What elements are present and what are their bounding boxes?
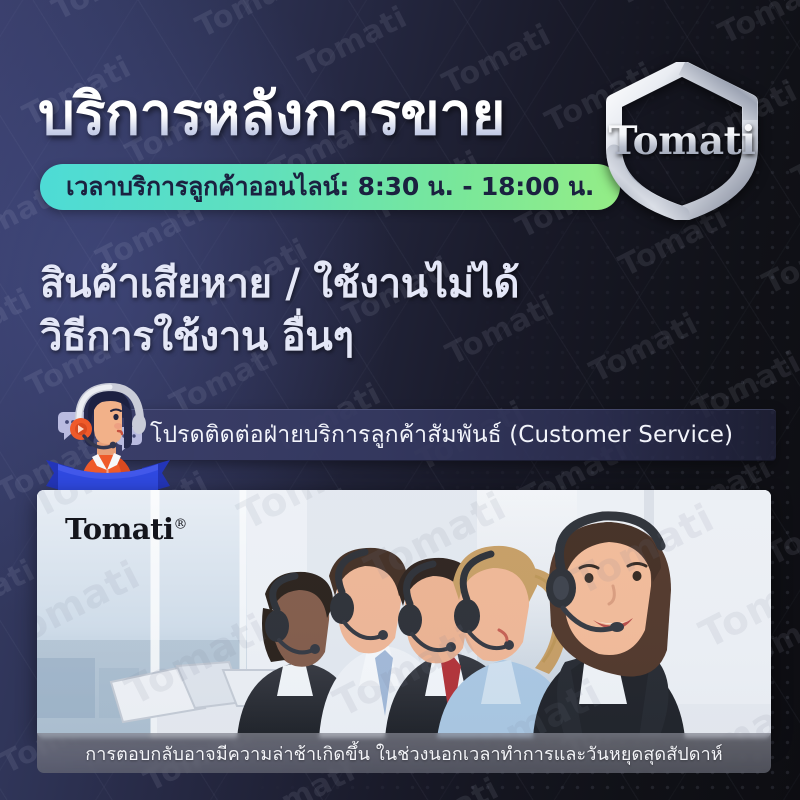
issue-line-2: วิธีการใช้งาน อื่นๆ (40, 311, 640, 364)
photo-brand-watermark: Tomati® (65, 512, 187, 546)
page-title: บริการหลังการขาย (38, 84, 568, 145)
watermark-text: Tomati (293, 0, 412, 84)
promo-poster: Tomati Tomati Tomati Tomati Tomati Tomat… (0, 0, 800, 800)
issue-line-1: สินค้าเสียหาย / ใช้งานไม่ได้ (40, 261, 519, 307)
watermark-text: Tomati (786, 112, 800, 196)
footer-notice-text: การตอบกลับอาจมีความล่าช้าเกิดขึ้น ในช่วง… (85, 739, 723, 768)
registered-mark: ® (173, 516, 187, 532)
brand-name: Tomati (606, 118, 758, 164)
call-center-team-photo: Tomati Tomati Tomati Tomati Tomati Tomat… (37, 490, 771, 738)
watermark-text: Tomati (47, 0, 166, 28)
service-hours-label: เวลาบริการลูกค้าออนไลน์: 8:30 น. - 18:00… (66, 167, 594, 207)
service-hours-badge: เวลาบริการลูกค้าออนไลน์: 8:30 น. - 18:00… (40, 164, 620, 210)
headset-agent-icon (44, 376, 172, 500)
issue-list: สินค้าเสียหาย / ใช้งานไม่ได้ วิธีการใช้ง… (40, 258, 640, 364)
watermark-text: Tomati (610, 0, 729, 13)
photo-brand-name: Tomati (65, 512, 173, 546)
watermark-text: Tomati (713, 0, 800, 52)
watermark-text: Tomati (0, 553, 41, 637)
watermark-text: Tomati (0, 282, 37, 366)
brand-logo: Tomati (606, 62, 758, 220)
watermark-text: Tomati (757, 218, 800, 302)
contact-banner: โปรดติดต่อฝ่ายบริการลูกค้าสัมพันธ์ (Cust… (116, 409, 776, 461)
footer-notice-bar: การตอบกลับอาจมีความล่าช้าเกิดขึ้น ในช่วง… (37, 733, 771, 773)
contact-banner-label: โปรดติดต่อฝ่ายบริการลูกค้าสัมพันธ์ (Cust… (116, 417, 733, 453)
watermark-text: Tomati (385, 771, 504, 800)
watermark-text: Tomati (190, 0, 309, 45)
